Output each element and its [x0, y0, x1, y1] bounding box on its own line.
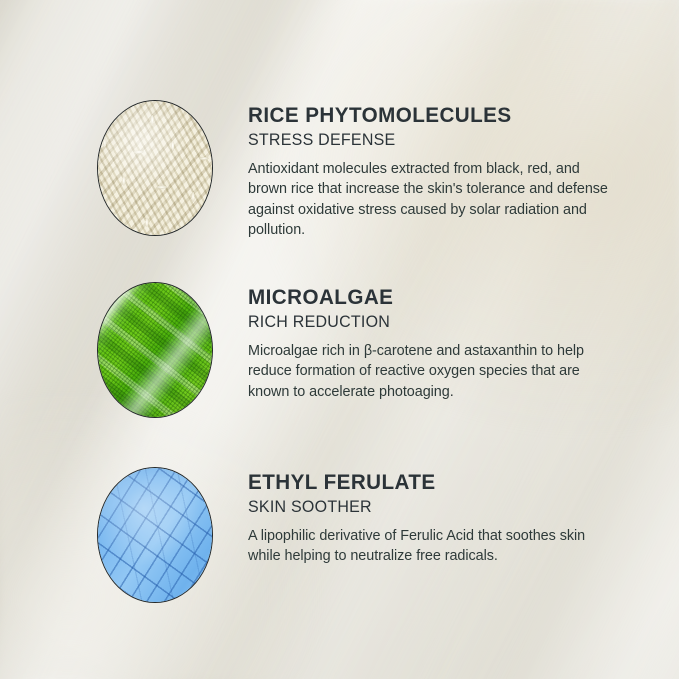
- ingredient-text-microalgae: MICROALGAE RICH REDUCTION Microalgae ric…: [248, 282, 618, 402]
- rice-shading: [98, 101, 212, 235]
- ingredient-subtitle: SKIN SOOTHER: [248, 498, 607, 517]
- ingredient-row-microalgae: MICROALGAE RICH REDUCTION Microalgae ric…: [0, 282, 679, 418]
- ingredient-row-rice-phytomolecules: RICE PHYTOMOLECULES STRESS DEFENSE Antio…: [0, 100, 679, 241]
- ingredient-text-ethyl-ferulate: ETHYL FERULATE SKIN SOOTHER A lipophilic…: [248, 467, 618, 567]
- ingredient-image-wrap-ethyl-ferulate: [97, 467, 213, 603]
- ingredient-title: ETHYL FERULATE: [248, 471, 603, 494]
- ingredient-image-wrap-microalgae: [97, 282, 213, 418]
- ingredient-title: RICE PHYTOMOLECULES: [248, 104, 603, 127]
- microalgae-shading: [98, 283, 212, 417]
- ingredients-infographic: RICE PHYTOMOLECULES STRESS DEFENSE Antio…: [0, 0, 679, 679]
- ingredient-row-ethyl-ferulate: ETHYL FERULATE SKIN SOOTHER A lipophilic…: [0, 467, 679, 603]
- ingredient-description: Antioxidant molecules extracted from bla…: [248, 159, 608, 241]
- ingredient-subtitle: RICH REDUCTION: [248, 313, 607, 332]
- ingredient-subtitle: STRESS DEFENSE: [248, 131, 607, 150]
- ingredient-title: MICROALGAE: [248, 286, 603, 309]
- ingredient-image-wrap-rice: [97, 100, 213, 236]
- plant-cells-highlight: [98, 468, 212, 602]
- ingredient-description: Microalgae rich in β-carotene and astaxa…: [248, 341, 608, 402]
- rice-grains-photo: [97, 100, 213, 236]
- plant-cells-micrograph: [97, 467, 213, 603]
- ingredient-description: A lipophilic derivative of Ferulic Acid …: [248, 526, 608, 567]
- microalgae-micrograph: [97, 282, 213, 418]
- ingredient-text-rice: RICE PHYTOMOLECULES STRESS DEFENSE Antio…: [248, 100, 618, 241]
